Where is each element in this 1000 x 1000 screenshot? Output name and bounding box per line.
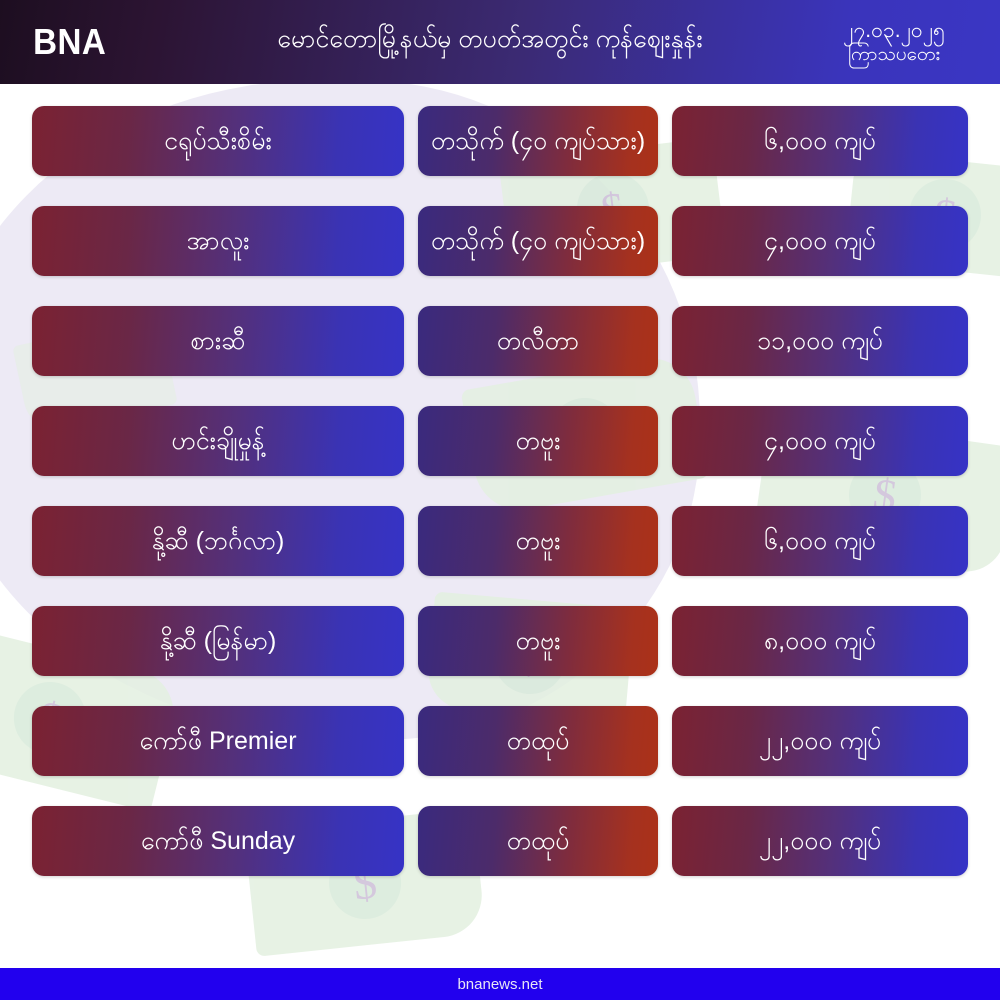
website-url[interactable]: bnanews.net: [457, 976, 542, 993]
table-row: စားဆီ တလီတာ ၁၁,၀၀၀ ကျပ်: [32, 306, 968, 376]
table-row: ကော်ဖီ Premier တထုပ် ၂၂,၀၀၀ ကျပ်: [32, 706, 968, 776]
item-price-cell: ၂၂,၀၀၀ ကျပ်: [672, 806, 968, 876]
item-price-cell: ၄,၀၀၀ ကျပ်: [672, 206, 968, 276]
header-date-block: ၂၇.၀၃.၂၀၂၅ ကြာသပတေး: [810, 18, 1000, 67]
price-table: ငရုပ်သီးစိမ်း တသိုက် (၄၀ ကျပ်သား) ၆,၀၀၀ …: [0, 84, 1000, 876]
item-unit-cell: တထုပ်: [418, 706, 658, 776]
item-name-cell: နို့ဆီ (မြန်မာ): [32, 606, 404, 676]
table-row: အာလူး တသိုက် (၄၀ ကျပ်သား) ၄,၀၀၀ ကျပ်: [32, 206, 968, 276]
item-name-cell: အာလူး: [32, 206, 404, 276]
item-price-cell: ၂၂,၀၀၀ ကျပ်: [672, 706, 968, 776]
item-price-cell: ၄,၀၀၀ ကျပ်: [672, 406, 968, 476]
item-name-cell: နို့ဆီ (ဘင်္ဂလာ): [32, 506, 404, 576]
item-name-cell: စားဆီ: [32, 306, 404, 376]
item-unit-cell: တဗူး: [418, 406, 658, 476]
item-unit-cell: တဗူး: [418, 506, 658, 576]
item-name-cell: ငရုပ်သီးစိမ်း: [32, 106, 404, 176]
table-row: နို့ဆီ (မြန်မာ) တဗူး ၈,၀၀၀ ကျပ်: [32, 606, 968, 676]
item-price-cell: ၆,၀၀၀ ကျပ်: [672, 106, 968, 176]
bna-logo: BNA: [0, 21, 175, 63]
item-name-cell: ကော်ဖီ Premier: [32, 706, 404, 776]
header-weekday-value: ကြာသပတေး: [810, 43, 978, 66]
table-row: ငရုပ်သီးစိမ်း တသိုက် (၄၀ ကျပ်သား) ၆,၀၀၀ …: [32, 106, 968, 176]
item-unit-cell: တသိုက် (၄၀ ကျပ်သား): [418, 206, 658, 276]
poster-header: BNA မောင်တောမြို့နယ်မှ တပတ်အတွင်း ကုန်ဈေ…: [0, 0, 1000, 84]
item-price-cell: ၆,၀၀၀ ကျပ်: [672, 506, 968, 576]
table-row: ဟင်းချိုမှုန့် တဗူး ၄,၀၀၀ ကျပ်: [32, 406, 968, 476]
item-name-cell: ဟင်းချိုမှုန့်: [32, 406, 404, 476]
price-list-poster: $ $ $ $ $ $ $ BNA မောင်တောမြို့နယ်: [0, 0, 1000, 1000]
item-unit-cell: တဗူး: [418, 606, 658, 676]
item-unit-cell: တလီတာ: [418, 306, 658, 376]
item-price-cell: ၈,၀၀၀ ကျပ်: [672, 606, 968, 676]
item-unit-cell: တသိုက် (၄၀ ကျပ်သား): [418, 106, 658, 176]
page-title: မောင်တောမြို့နယ်မှ တပတ်အတွင်း ကုန်ဈေးနှု…: [190, 24, 810, 59]
table-row: ကော်ဖီ Sunday တထုပ် ၂၂,၀၀၀ ကျပ်: [32, 806, 968, 876]
header-date-value: ၂၇.၀၃.၂၀၂၅: [810, 18, 978, 44]
item-price-cell: ၁၁,၀၀၀ ကျပ်: [672, 306, 968, 376]
poster-footer: bnanews.net: [0, 968, 1000, 1000]
item-unit-cell: တထုပ်: [418, 806, 658, 876]
item-name-cell: ကော်ဖီ Sunday: [32, 806, 404, 876]
table-row: နို့ဆီ (ဘင်္ဂလာ) တဗူး ၆,၀၀၀ ကျပ်: [32, 506, 968, 576]
